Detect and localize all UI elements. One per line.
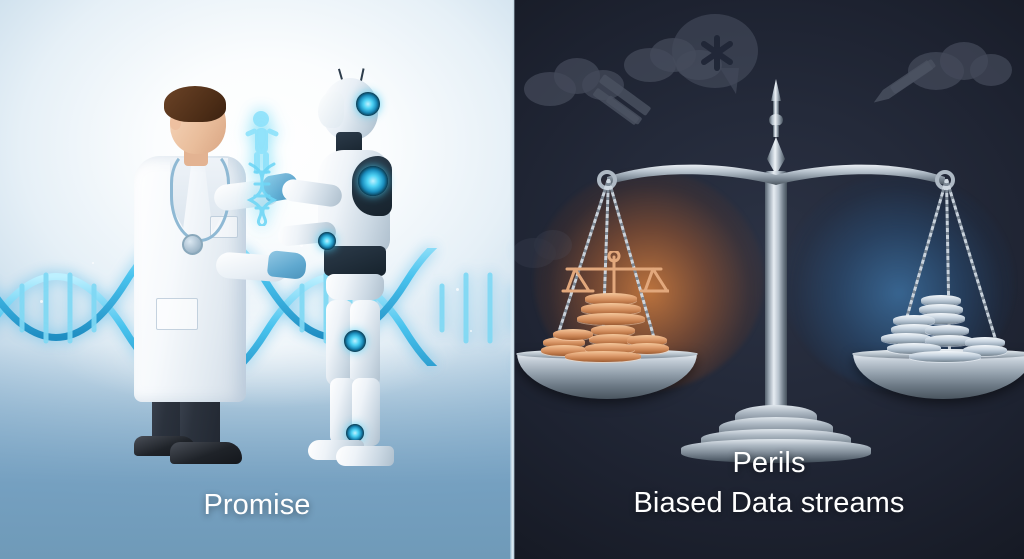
doctor-hair (164, 86, 226, 122)
gold-coin (565, 351, 641, 362)
robot-knee-light (344, 330, 366, 352)
sparkle (456, 288, 459, 291)
panel-divider (510, 0, 515, 559)
right-panel-perils: Perils Biased Data streams (514, 0, 1024, 559)
sparkle (470, 330, 472, 332)
split-illustration: Promise (0, 0, 1024, 559)
sparkle (92, 262, 94, 264)
coat-pocket (156, 298, 198, 330)
caption-perils: Perils (514, 447, 1024, 480)
robot-face (318, 92, 344, 128)
robot-foot-front (336, 446, 394, 466)
doctor-shoe-front (170, 442, 242, 464)
hologram-human-dna (228, 108, 298, 226)
robot-figure (296, 78, 426, 464)
caption-biased-data-streams: Biased Data streams (514, 487, 1024, 520)
robot-waist (324, 246, 386, 276)
robot-chest-light (358, 166, 388, 196)
asterisk-icon (696, 32, 738, 74)
scale-beam (597, 161, 955, 183)
robot-hip (326, 274, 384, 300)
stethoscope-bell (182, 234, 203, 255)
gold-coin (553, 329, 593, 340)
balance-scale (569, 75, 969, 450)
gold-coin (577, 313, 645, 325)
cloud-puff (970, 54, 1012, 86)
sparkle (40, 300, 43, 303)
robot-head-light (356, 92, 380, 116)
robot-wrist-light (318, 232, 336, 250)
left-panel-promise: Promise (0, 0, 514, 559)
silver-coin (909, 351, 981, 362)
caption-promise: Promise (0, 489, 514, 522)
